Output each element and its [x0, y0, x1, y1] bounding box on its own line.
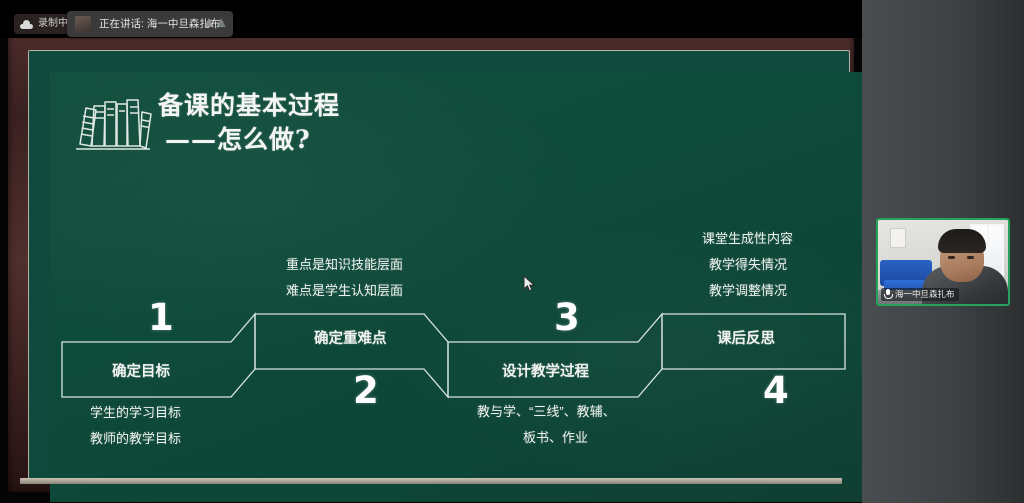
step-note-4-2: 教学调整情况: [709, 280, 787, 299]
shared-screen-region: 备课的基本过程 ——怎么做? 1 确定目: [0, 0, 862, 503]
microphone-icon: [883, 289, 892, 300]
meeting-status-bar: 录制中 正在讲话: 海一中旦森扎布:: [0, 0, 862, 38]
step-note-4-0: 课堂生成性内容: [702, 228, 793, 247]
step-note-2-0: 重点是知识技能层面: [286, 254, 403, 273]
video-person-eye-left: [948, 256, 955, 259]
sound-wave-icon: [204, 18, 226, 27]
step-label-4: 课后反思: [717, 327, 775, 348]
step-label-3: 设计教学过程: [502, 360, 589, 381]
step-note-2-1: 难点是学生认知层面: [286, 280, 403, 299]
step-note-3-1: 板书、作业: [523, 427, 588, 446]
participant-name-bar: 海一中旦森扎布: [881, 288, 959, 301]
step-label-2: 确定重难点: [314, 327, 387, 348]
chalkboard-surface: 备课的基本过程 ——怎么做? 1 确定目: [50, 72, 862, 502]
step-note-1-1: 教师的教学目标: [90, 428, 181, 447]
video-person-eye-right: [967, 256, 974, 259]
active-speaker-banner[interactable]: 正在讲话: 海一中旦森扎布:: [67, 11, 233, 37]
participant-video-tile[interactable]: 海一中旦森扎布: [876, 218, 1010, 306]
participant-name: 海一中旦森扎布: [895, 290, 955, 299]
video-wall-picture: [890, 228, 906, 248]
recording-label: 录制中: [38, 19, 68, 29]
step-note-1-0: 学生的学习目标: [90, 402, 181, 421]
meeting-screen: 备课的基本过程 ——怎么做? 1 确定目: [0, 0, 1024, 503]
chalk-tray: [20, 478, 842, 484]
participant-panel: 海一中旦森扎布: [862, 0, 1024, 503]
blackboard-bevel: 备课的基本过程 ——怎么做? 1 确定目: [28, 50, 850, 482]
step-number-1: 1: [148, 299, 174, 336]
step-label-1: 确定目标: [112, 360, 170, 381]
step-note-3-0: 教与学、“三线”、教辅、: [477, 401, 616, 420]
cloud-icon: [20, 20, 33, 29]
video-person-hair: [938, 229, 986, 253]
step-number-2: 2: [353, 372, 379, 409]
step-note-4-1: 教学得失情况: [709, 254, 787, 273]
mouse-pointer-icon: [523, 275, 536, 293]
step-number-3: 3: [554, 299, 580, 336]
blackboard-frame: 备课的基本过程 ——怎么做? 1 确定目: [8, 30, 854, 492]
step-number-4: 4: [763, 372, 789, 409]
avatar-icon: [75, 16, 91, 32]
recording-indicator[interactable]: 录制中: [14, 14, 74, 34]
